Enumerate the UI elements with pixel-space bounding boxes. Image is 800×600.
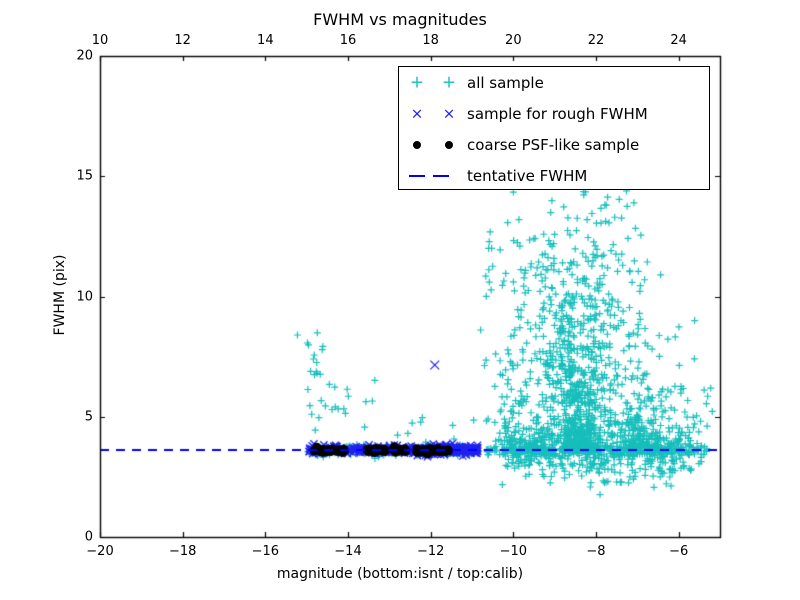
legend-label-all-sample: all sample <box>467 74 544 92</box>
x-tick-bottom-3: −14 <box>334 544 361 559</box>
legend-item-rough-fwhm: × × sample for rough FWHM <box>399 98 709 129</box>
filled-circle-icon <box>413 141 421 149</box>
x-cross-icon: × <box>411 106 424 121</box>
x-tick-bottom-7: −6 <box>669 544 688 559</box>
legend-item-tentative-fwhm: tentative FWHM <box>399 160 709 191</box>
x-tick-top-6: 22 <box>588 33 605 48</box>
figure-container: FWHM vs magnitudes magnitude (bottom:isn… <box>0 0 800 600</box>
dash-segment-icon <box>433 175 449 177</box>
x-tick-bottom-2: −16 <box>252 544 279 559</box>
x-cross-icon: × <box>443 106 456 121</box>
legend-marker-coarse-psf <box>399 129 467 160</box>
x-axis-label: magnitude (bottom:isnt / top:calib) <box>0 566 800 582</box>
y-tick-4: 20 <box>76 49 93 64</box>
chart-legend: + + all sample × × sample for rough FWHM… <box>398 66 710 190</box>
x-tick-bottom-5: −10 <box>500 544 527 559</box>
x-tick-bottom-4: −12 <box>417 544 444 559</box>
x-tick-bottom-6: −8 <box>586 544 605 559</box>
x-tick-top-4: 18 <box>422 33 439 48</box>
y-tick-2: 10 <box>76 289 93 304</box>
y-tick-0: 0 <box>85 530 93 545</box>
y-tick-3: 15 <box>76 169 93 184</box>
filled-circle-icon <box>445 141 453 149</box>
x-tick-top-3: 16 <box>340 33 357 48</box>
plus-icon: + <box>442 74 456 91</box>
x-tick-bottom-1: −18 <box>169 544 196 559</box>
x-tick-top-5: 20 <box>505 33 522 48</box>
legend-marker-rough-fwhm: × × <box>399 98 467 129</box>
x-tick-top-0: 10 <box>92 33 109 48</box>
dash-segment-icon <box>409 175 425 177</box>
y-axis-label: FWHM (pix) <box>52 195 68 395</box>
legend-item-all-sample: + + all sample <box>399 67 709 98</box>
chart-title: FWHM vs magnitudes <box>0 10 800 29</box>
legend-label-rough-fwhm: sample for rough FWHM <box>467 105 648 123</box>
legend-label-coarse-psf: coarse PSF-like sample <box>467 136 639 154</box>
legend-label-tentative-fwhm: tentative FWHM <box>467 167 587 185</box>
x-tick-top-2: 14 <box>257 33 274 48</box>
y-tick-1: 5 <box>85 409 93 424</box>
plus-icon: + <box>410 74 424 91</box>
legend-marker-all-sample: + + <box>399 67 467 98</box>
x-tick-top-1: 12 <box>174 33 191 48</box>
x-tick-top-7: 24 <box>670 33 687 48</box>
legend-item-coarse-psf: coarse PSF-like sample <box>399 129 709 160</box>
legend-marker-tentative-fwhm <box>399 160 467 191</box>
x-tick-bottom-0: −20 <box>86 544 113 559</box>
